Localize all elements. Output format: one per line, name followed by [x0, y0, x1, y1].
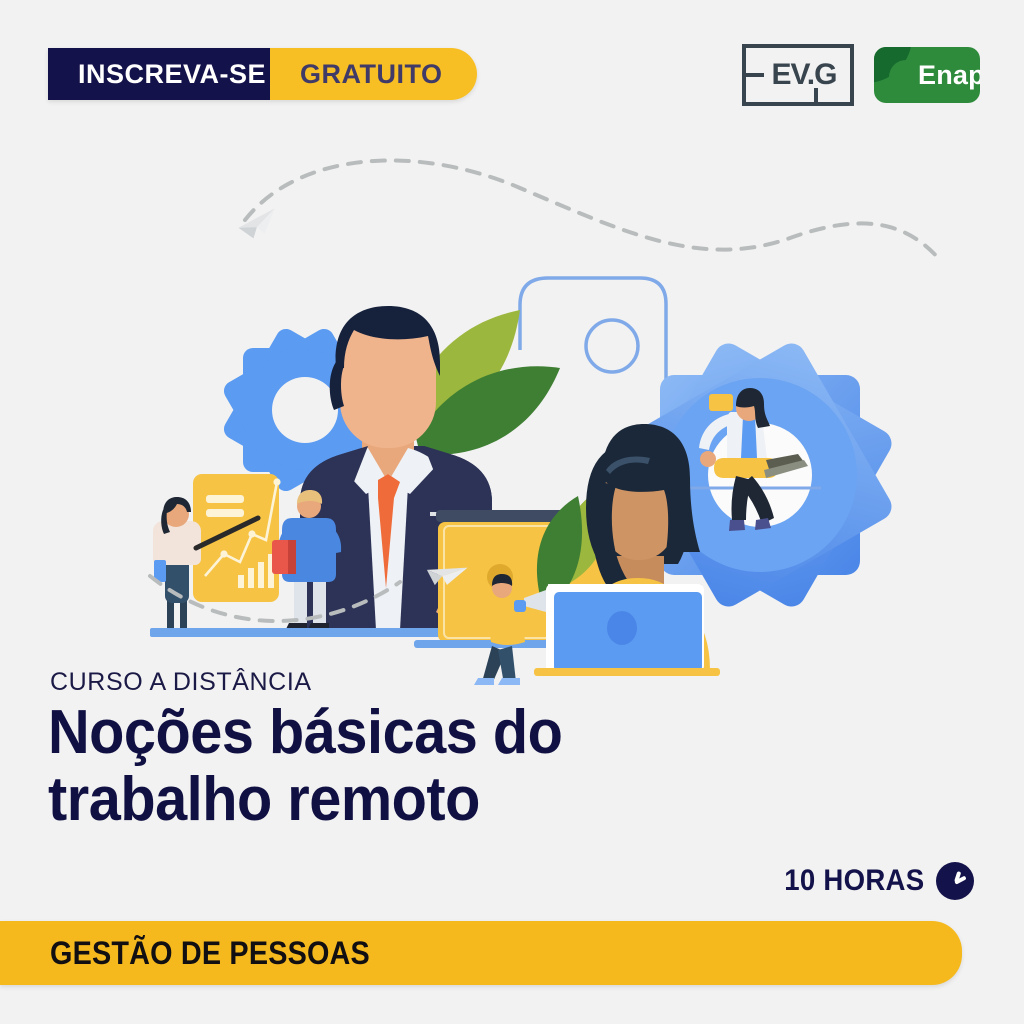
enroll-badge[interactable]: INSCREVA-SE GRATUITO	[48, 48, 477, 100]
course-duration: 10 HORAS	[772, 862, 974, 900]
dashed-path-top	[245, 160, 940, 260]
evg-logo-left-tick	[742, 73, 764, 77]
clock-icon	[936, 862, 974, 900]
category-label: GESTÃO DE PESSOAS	[50, 935, 370, 972]
page-title: Noções básicas do trabalho remoto	[48, 700, 792, 834]
chat-bubble	[709, 394, 733, 411]
enroll-badge-primary[interactable]: INSCREVA-SE	[48, 48, 292, 100]
enap-logo-text: Enap	[918, 60, 980, 91]
course-modality-label: CURSO A DISTÂNCIA	[50, 668, 312, 697]
course-duration-label: 10 HORAS	[784, 864, 924, 898]
enroll-badge-secondary[interactable]: GRATUITO	[270, 48, 477, 100]
circle-outline	[586, 320, 638, 372]
logo-group: EV.G Enap	[742, 44, 980, 106]
paper-plane-left	[236, 208, 281, 241]
evg-logo: EV.G	[742, 44, 854, 106]
evg-logo-text: EV.G	[771, 60, 838, 90]
course-poster: INSCREVA-SE GRATUITO EV.G Enap	[0, 0, 1024, 1024]
category-banner: GESTÃO DE PESSOAS	[0, 921, 962, 985]
remote-work-illustration	[0, 110, 1024, 690]
enap-logo: Enap	[874, 47, 980, 103]
laptop-blue	[534, 584, 720, 676]
evg-logo-bottom-tick	[814, 88, 818, 106]
enap-leaf-icon	[874, 47, 912, 83]
chart-board	[193, 474, 281, 602]
